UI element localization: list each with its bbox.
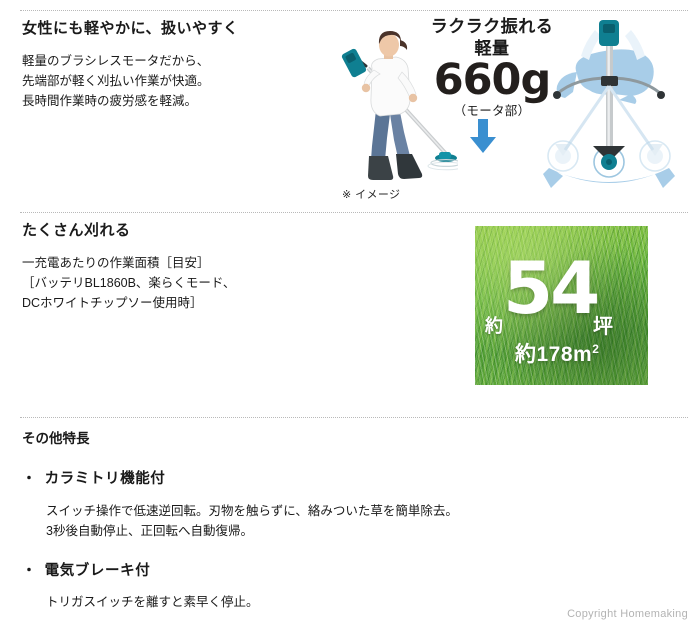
bullet-icon: ・: [22, 471, 37, 485]
hero-artwork: ラクラク振れる 軽量 660g （モータ部）: [330, 14, 692, 204]
feature-description: スイッチ操作で低速逆回転。刃物を触らずに、絡みついた草を簡単除去。 3秒後自動停…: [46, 501, 662, 541]
section-cutting-area: たくさん刈れる 一充電あたりの作業面積［目安］ ［バッテリBL1860B、楽らく…: [22, 222, 342, 313]
section-cutting-area-body: 一充電あたりの作業面積［目安］ ［バッテリBL1860B、楽らくモード、 DCホ…: [22, 253, 342, 313]
section-divider-bottom: [20, 417, 688, 418]
section-divider-middle: [20, 212, 688, 213]
section-other-features: その他特長 ・ カラミトリ機能付 スイッチ操作で低速逆回転。刃物を触らずに、絡み…: [22, 427, 662, 630]
feature-heading: カラミトリ機能付: [45, 467, 166, 488]
section-lightweight-body: 軽量のブラシレスモータだから、 先端部が軽く刈払い作業が快適。 長時間作業時の疲…: [22, 51, 322, 111]
section-lightweight: 女性にも軽やかに、扱いやすく 軽量のブラシレスモータだから、 先端部が軽く刈払い…: [22, 20, 322, 111]
image-disclaimer-note: ※ イメージ: [342, 186, 400, 202]
feature-heading-row: ・ 電気ブレーキ付: [22, 559, 662, 580]
section-other-features-title: その他特長: [22, 427, 662, 447]
arrow-down-icon: [470, 119, 496, 153]
feature-item: ・ カラミトリ機能付 スイッチ操作で低速逆回転。刃物を触らずに、絡みついた草を簡…: [22, 467, 662, 541]
grass-approx-prefix: 約: [485, 312, 503, 338]
grass-area-label: 約 54 坪 約178m2: [475, 226, 648, 385]
brushcutter-swing-motion-diagram: [535, 16, 690, 191]
grass-area-metric: 約178m2: [515, 338, 599, 368]
feature-item: ・ 電気ブレーキ付 トリガスイッチを離すと素早く停止。: [22, 559, 662, 613]
section-cutting-area-title: たくさん刈れる: [22, 222, 342, 240]
grass-area-image: 約 54 坪 約178m2: [475, 226, 648, 385]
section-divider-top: [20, 10, 688, 11]
feature-heading: 電気ブレーキ付: [45, 559, 151, 580]
feature-heading-row: ・ カラミトリ機能付: [22, 467, 662, 488]
product-feature-page: 女性にも軽やかに、扱いやすく 軽量のブラシレスモータだから、 先端部が軽く刈払い…: [0, 0, 700, 630]
section-lightweight-title: 女性にも軽やかに、扱いやすく: [22, 20, 322, 38]
copyright-text: Copyright Homemaking: [567, 608, 688, 620]
grass-area-unit: 坪: [593, 310, 613, 339]
grass-area-value: 54: [503, 252, 597, 324]
bullet-icon: ・: [22, 563, 37, 577]
